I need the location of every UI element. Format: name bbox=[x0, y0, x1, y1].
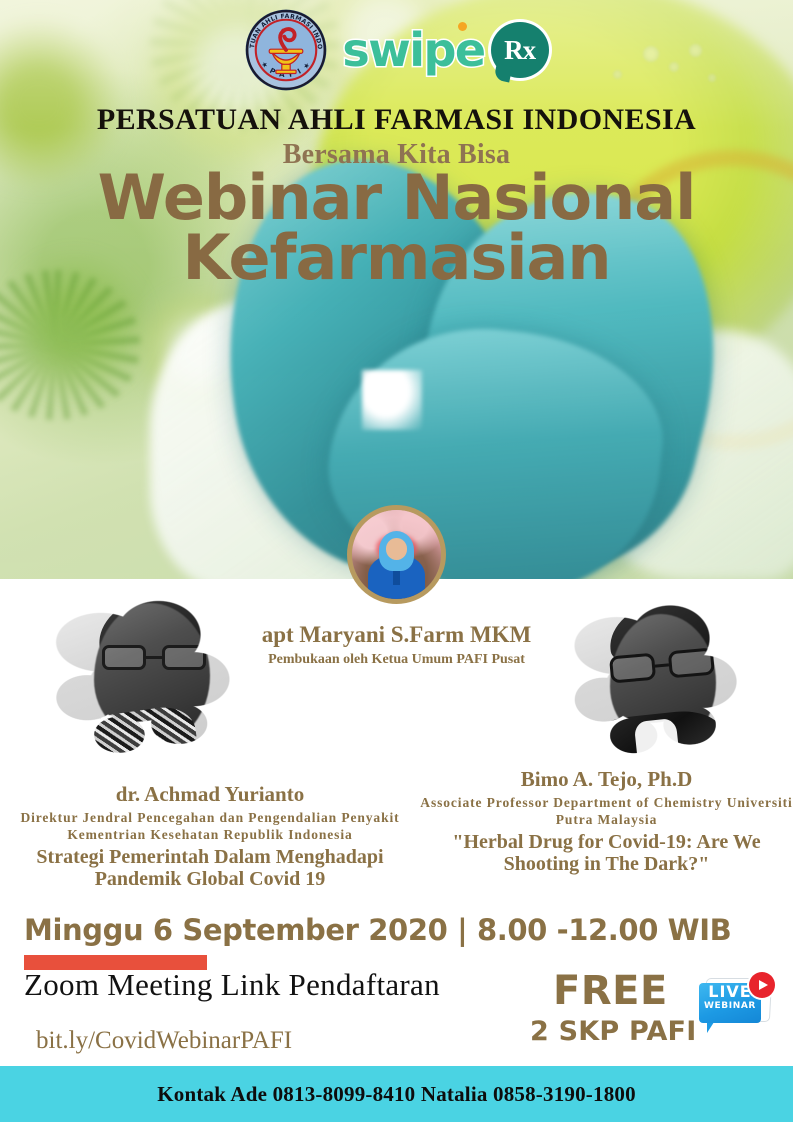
center-speaker-role: Pembukaan oleh Ketua Umum PAFI Pusat bbox=[0, 652, 793, 668]
title-line-2: Kefarmasian bbox=[0, 228, 793, 288]
webinar-poster: PERSATUAN AHLI FARMASI INDONESIA ★ P A F… bbox=[0, 0, 793, 1122]
left-speaker-details: dr. Achmad Yurianto Direktur Jendral Pen… bbox=[0, 783, 420, 890]
swipe-text: swipe bbox=[342, 23, 484, 77]
swipe-wordmark: swipe bbox=[342, 27, 484, 73]
rx-label: Rx bbox=[504, 37, 535, 64]
right-speaker-affiliation: Associate Professor Department of Chemis… bbox=[420, 795, 793, 828]
right-speaker-photo bbox=[552, 588, 767, 768]
page-title: Webinar Nasional Kefarmasian bbox=[0, 168, 793, 287]
right-speaker-topic: "Herbal Drug for Covid-19: Are We Shooti… bbox=[420, 831, 793, 875]
logo-row: PERSATUAN AHLI FARMASI INDONESIA ★ P A F… bbox=[0, 6, 793, 94]
credits-label: 2 SKP PAFI bbox=[530, 1016, 696, 1047]
swipe-dot-icon bbox=[458, 22, 467, 31]
brush-stroke-mask bbox=[552, 588, 767, 768]
live-webinar-badge: LIVE WEBINAR bbox=[697, 974, 775, 1040]
left-speaker-affiliation: Direktur Jendral Pencegahan dan Pengenda… bbox=[0, 810, 420, 843]
organization-name: PERSATUAN AHLI FARMASI INDONESIA bbox=[0, 103, 793, 137]
right-speaker-name: Bimo A. Tejo, Ph.D bbox=[420, 768, 793, 791]
center-speaker-name: apt Maryani S.Farm MKM bbox=[0, 622, 793, 648]
center-speaker-avatar bbox=[347, 505, 446, 604]
price-label: FREE bbox=[553, 968, 668, 1014]
portrait-batik-shirt bbox=[77, 703, 199, 768]
rx-speech-bubble-icon: Rx bbox=[491, 22, 549, 78]
registration-link[interactable]: bit.ly/CovidWebinarPAFI bbox=[36, 1027, 292, 1055]
brush-stroke-mask bbox=[32, 583, 262, 768]
portrait-shirt bbox=[634, 718, 681, 768]
badge-webinar-text: WEBINAR bbox=[699, 1002, 761, 1011]
contact-text: Kontak Ade 0813-8099-8410 Natalia 0858-3… bbox=[157, 1082, 636, 1107]
play-button-icon bbox=[749, 972, 775, 998]
platform-registration-label: Zoom Meeting Link Pendaftaran bbox=[24, 967, 440, 1003]
left-speaker-photo bbox=[32, 583, 262, 768]
left-speaker-name: dr. Achmad Yurianto bbox=[0, 783, 420, 806]
event-date-time: Minggu 6 September 2020 | 8.00 -12.00 WI… bbox=[24, 913, 731, 947]
swiperx-logo: swipe Rx bbox=[342, 22, 548, 78]
left-speaker-topic: Strategi Pemerintah Dalam Menghadapi Pan… bbox=[0, 846, 420, 890]
avatar-face bbox=[386, 538, 407, 559]
right-speaker-details: Bimo A. Tejo, Ph.D Associate Professor D… bbox=[420, 768, 793, 875]
pafi-logo-icon: PERSATUAN AHLI FARMASI INDONESIA ★ P A F… bbox=[244, 8, 328, 92]
contact-footer: Kontak Ade 0813-8099-8410 Natalia 0858-3… bbox=[0, 1066, 793, 1122]
